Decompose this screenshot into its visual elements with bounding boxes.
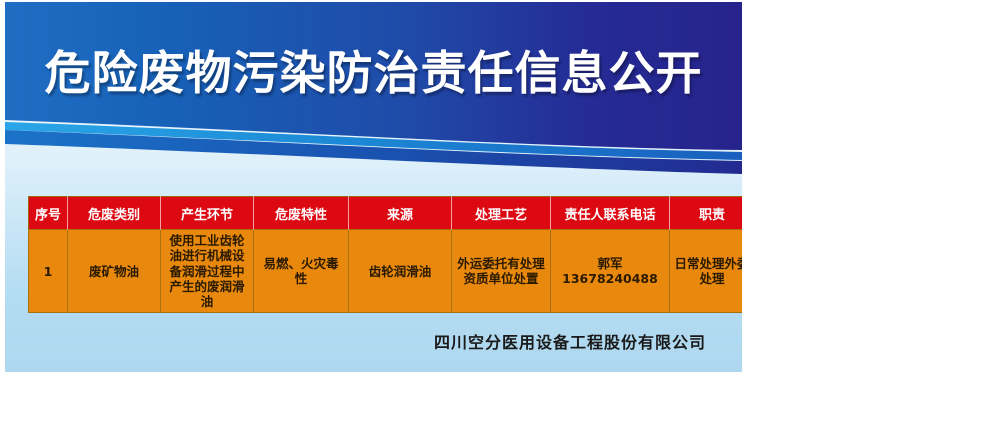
cell-property: 易燃、火灾毒性 [254,230,349,313]
column-header-property: 危废特性 [254,197,349,230]
responsible-person-phone: 13678240488 [555,271,665,286]
company-name: 四川空分医用设备工程股份有限公司 [28,329,714,353]
column-header-category: 危废类别 [68,197,161,230]
board-header-banner: 危险废物污染防治责任信息公开 [5,2,742,177]
board-title: 危险废物污染防治责任信息公开 [5,50,742,96]
cell-stage: 使用工业齿轮油进行机械设备润滑过程中产生的废润滑油 [161,230,254,313]
column-header-treatment: 处理工艺 [452,197,551,230]
cell-seq: 1 [29,230,68,313]
table-row: 1 废矿物油 使用工业齿轮油进行机械设备润滑过程中产生的废润滑油 易燃、火灾毒性… [29,230,743,313]
cell-contact: 郭军 13678240488 [551,230,670,313]
column-header-stage: 产生环节 [161,197,254,230]
cell-duty: 日常处理外委处理 [670,230,743,313]
column-header-contact: 责任人联系电话 [551,197,670,230]
responsible-person-name: 郭军 [555,256,665,271]
table-header-row: 序号 危废类别 产生环节 危废特性 来源 处理工艺 责任人联系电话 职责 [29,197,743,230]
cell-category: 废矿物油 [68,230,161,313]
information-board: 危险废物污染防治责任信息公开 序号 危废类别 产生环节 危废特性 来源 处理工艺… [5,2,742,372]
column-header-duty: 职责 [670,197,743,230]
cell-source: 齿轮润滑油 [349,230,452,313]
column-header-seq: 序号 [29,197,68,230]
cell-treatment: 外运委托有处理资质单位处置 [452,230,551,313]
column-header-source: 来源 [349,197,452,230]
hazardous-waste-table: 序号 危废类别 产生环节 危废特性 来源 处理工艺 责任人联系电话 职责 1 废… [28,196,742,313]
